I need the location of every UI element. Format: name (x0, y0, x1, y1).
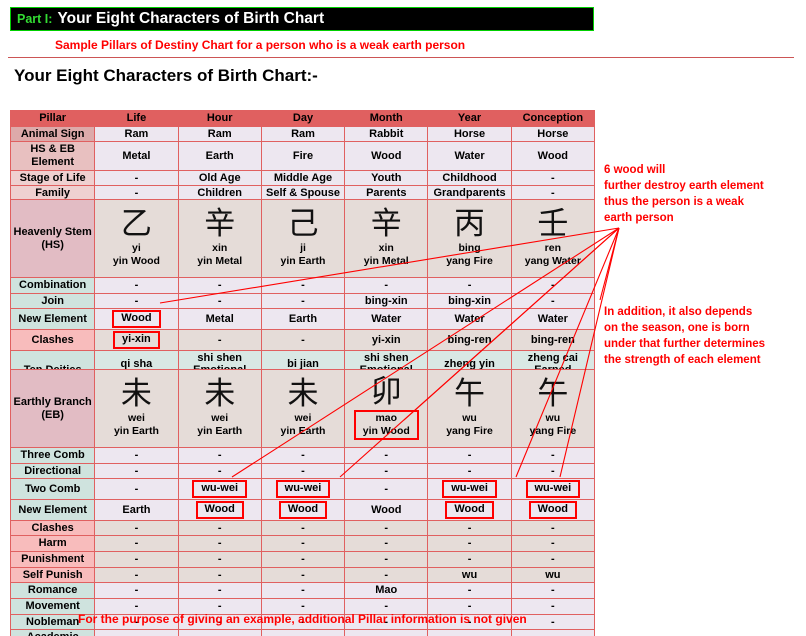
character-reading: xinyin Metal (180, 242, 260, 268)
table-cell: wu (511, 567, 594, 583)
table-cell: - (178, 330, 261, 351)
table-cell: - (428, 278, 511, 294)
element-label: yang Fire (429, 425, 509, 438)
table-cell: Rabbit (345, 126, 428, 142)
table-cell: - (178, 630, 261, 636)
heavenly-stem-corner-label: Heavenly Stem (HS) (11, 200, 95, 278)
table-cell: - (511, 552, 594, 568)
character-cell: 未weiyin Earth (95, 370, 178, 448)
table-cell: Ram (261, 126, 344, 142)
table-cell: - (345, 448, 428, 464)
table-cell: Ram (178, 126, 261, 142)
table-row: Clashesyi-xin--yi-xinbing-renbing-ren (11, 330, 595, 351)
table-cell: - (95, 479, 178, 500)
element-label: yin Earth (180, 425, 260, 438)
table-cell: Earth (95, 500, 178, 521)
column-header-day: Day (261, 111, 344, 127)
table-cell: - (261, 463, 344, 479)
table-cell: wu-wei (511, 479, 594, 500)
column-header-conception: Conception (511, 111, 594, 127)
character-cell: 卯maoyin Wood (345, 370, 428, 448)
character-row: Heavenly Stem (HS)乙yiyin Wood辛xinyin Met… (11, 200, 595, 278)
table-cell: - (345, 567, 428, 583)
table-cell: - (345, 536, 428, 552)
element-label: yang Water (513, 255, 593, 268)
pinyin-label: yi (96, 242, 176, 255)
heavenly-stem-table: Heavenly Stem (HS)乙yiyin Wood辛xinyin Met… (10, 199, 595, 392)
element-label: yin Earth (263, 425, 343, 438)
table-row: Clashes------ (11, 520, 595, 536)
row-label: Directional (11, 463, 95, 479)
character-reading: bingyang Fire (429, 242, 509, 268)
table-cell: - (95, 583, 178, 599)
column-header-hour: Hour (178, 111, 261, 127)
table-cell: - (95, 552, 178, 568)
table-cell: - (511, 630, 594, 636)
table-row: Romance---Mao-- (11, 583, 595, 599)
character-cell: 壬renyang Water (511, 200, 594, 278)
table-cell: - (261, 536, 344, 552)
table-cell: - (261, 278, 344, 294)
table-cell: Wood (178, 500, 261, 521)
row-label: New Element (11, 309, 95, 330)
chinese-character: 辛 (180, 209, 260, 240)
highlight-box: Wood (445, 501, 493, 519)
pillar-summary-table: PillarLifeHourDayMonthYearConceptionAnim… (10, 110, 595, 202)
table-cell: Earth (178, 142, 261, 170)
pinyin-label: bing (429, 242, 509, 255)
row-label: Clashes (11, 330, 95, 351)
character-reading: weiyin Earth (96, 412, 176, 438)
table-cell: Water (345, 309, 428, 330)
character-row: Earthly Branch (EB)未weiyin Earth未weiyin … (11, 370, 595, 448)
table-cell: Fire (261, 142, 344, 170)
table-cell: wu-wei (178, 479, 261, 500)
highlight-box: wu-wei (442, 480, 497, 498)
page-title-bar: Part I: Your Eight Characters of Birth C… (10, 7, 594, 31)
row-label: Harm (11, 536, 95, 552)
table-cell: - (428, 448, 511, 464)
table-cell: Wood (511, 500, 594, 521)
part-label: Part I: (17, 12, 52, 26)
element-label: yin Earth (263, 255, 343, 268)
highlight-box: wu-wei (192, 480, 247, 498)
table-row: New ElementWoodMetalEarthWaterWaterWater (11, 309, 595, 330)
table-cell: - (511, 170, 594, 186)
table-cell: - (178, 293, 261, 309)
table-cell: - (428, 463, 511, 479)
table-cell: Wood (95, 309, 178, 330)
character-cell: 丙bingyang Fire (428, 200, 511, 278)
table-cell: - (345, 479, 428, 500)
annotation-note-2: In addition, it also depends on the seas… (604, 305, 765, 368)
table-cell: bing-ren (428, 330, 511, 351)
table-cell: - (178, 567, 261, 583)
table-cell: - (95, 536, 178, 552)
pinyin-label: ji (263, 242, 343, 255)
table-row: Academic------ (11, 630, 595, 636)
table-cell: - (178, 552, 261, 568)
table-row: Harm------ (11, 536, 595, 552)
row-label: Join (11, 293, 95, 309)
row-label: Clashes (11, 520, 95, 536)
table-row: Two Comb-wu-weiwu-wei-wu-weiwu-wei (11, 479, 595, 500)
table-cell: - (261, 552, 344, 568)
column-header-year: Year (428, 111, 511, 127)
table-cell: - (511, 448, 594, 464)
table-cell: wu-wei (261, 479, 344, 500)
table-cell: Ram (95, 126, 178, 142)
element-label: yin Earth (96, 425, 176, 438)
pinyin-label: wu (429, 412, 509, 425)
character-cell: 午wuyang Fire (511, 370, 594, 448)
table-row: Directional------ (11, 463, 595, 479)
table-row: Three Comb------ (11, 448, 595, 464)
table-cell: - (95, 463, 178, 479)
table-cell: - (95, 567, 178, 583)
table-cell: bing-xin (428, 293, 511, 309)
table-header-row: PillarLifeHourDayMonthYearConception (11, 111, 595, 127)
table-cell: Water (428, 142, 511, 170)
row-label: Academic (11, 630, 95, 636)
earthly-branch-corner-label: Earthly Branch (EB) (11, 370, 95, 448)
page-title: Your Eight Characters of Birth Chart (57, 10, 324, 28)
chinese-character: 卯 (346, 377, 426, 408)
column-header-life: Life (95, 111, 178, 127)
row-label: Combination (11, 278, 95, 294)
element-label: yang Fire (513, 425, 593, 438)
character-cell: 未weiyin Earth (261, 370, 344, 448)
table-cell: Water (511, 309, 594, 330)
character-cell: 乙yiyin Wood (95, 200, 178, 278)
chinese-character: 午 (513, 379, 593, 410)
annotation-note-1: 6 wood will further destroy earth elemen… (604, 163, 764, 226)
table-cell: Wood (345, 142, 428, 170)
table-cell: - (95, 170, 178, 186)
element-label: yin Metal (346, 255, 426, 268)
row-label: Stage of Life (11, 170, 95, 186)
row-label: HS & EB Element (11, 142, 95, 170)
chinese-character: 午 (429, 379, 509, 410)
table-cell: bing-ren (511, 330, 594, 351)
chinese-character: 辛 (346, 209, 426, 240)
table-cell: - (95, 520, 178, 536)
table-cell: - (261, 448, 344, 464)
pinyin-label: wu (513, 412, 593, 425)
page-subtitle: Sample Pillars of Destiny Chart for a pe… (55, 38, 465, 52)
table-cell: - (261, 293, 344, 309)
table-cell: - (95, 278, 178, 294)
table-cell: - (428, 583, 511, 599)
table-cell: - (511, 463, 594, 479)
chinese-character: 未 (180, 379, 260, 410)
table-row: Punishment------ (11, 552, 595, 568)
table-cell: yi-xin (345, 330, 428, 351)
pinyin-label: xin (180, 242, 260, 255)
table-cell: - (95, 293, 178, 309)
table-cell: - (511, 293, 594, 309)
table-cell: - (345, 520, 428, 536)
table-cell: - (345, 630, 428, 636)
table-cell: - (95, 448, 178, 464)
character-cell: 午wuyang Fire (428, 370, 511, 448)
table-cell: - (261, 583, 344, 599)
table-cell: Middle Age (261, 170, 344, 186)
table-cell: Water (428, 309, 511, 330)
table-cell: - (511, 520, 594, 536)
column-header-pillar: Pillar (11, 111, 95, 127)
chinese-character: 己 (263, 209, 343, 240)
element-label: yang Fire (429, 255, 509, 268)
table-cell: - (178, 520, 261, 536)
table-cell: Old Age (178, 170, 261, 186)
pinyin-label: wei (180, 412, 260, 425)
table-cell: Wood (261, 500, 344, 521)
row-label: New Element (11, 500, 95, 521)
table-cell: wu (428, 567, 511, 583)
table-row: Combination------ (11, 278, 595, 294)
table-cell: - (261, 330, 344, 351)
character-cell: 未weiyin Earth (178, 370, 261, 448)
table-cell: yi-xin (95, 330, 178, 351)
table-cell: - (95, 630, 178, 636)
table-row: New ElementEarthWoodWoodWoodWoodWood (11, 500, 595, 521)
character-cell: 辛xinyin Metal (178, 200, 261, 278)
row-label: Romance (11, 583, 95, 599)
highlight-box: Wood (112, 310, 160, 328)
page-root: Part I: Your Eight Characters of Birth C… (0, 0, 806, 636)
table-cell: Wood (511, 142, 594, 170)
table-cell: - (178, 463, 261, 479)
element-label: yin Wood (96, 255, 176, 268)
horizontal-divider (8, 57, 794, 58)
section-title: Your Eight Characters of Birth Chart:- (14, 66, 318, 86)
highlight-box: wu-wei (526, 480, 581, 498)
table-cell: Horse (511, 126, 594, 142)
column-header-month: Month (345, 111, 428, 127)
character-reading: weiyin Earth (180, 412, 260, 438)
table-cell: - (178, 536, 261, 552)
table-cell: - (345, 463, 428, 479)
row-label: Animal Sign (11, 126, 95, 142)
table-cell: Horse (428, 126, 511, 142)
table-cell: - (178, 583, 261, 599)
table-row: Stage of Life-Old AgeMiddle AgeYouthChil… (11, 170, 595, 186)
character-reading: wuyang Fire (513, 412, 593, 438)
row-label: Punishment (11, 552, 95, 568)
character-reading: maoyin Wood (354, 410, 419, 440)
earthly-branch-table: Earthly Branch (EB)未weiyin Earth未weiyin … (10, 369, 595, 636)
table-row: Join---bing-xinbing-xin- (11, 293, 595, 309)
table-cell: - (428, 536, 511, 552)
character-cell: 辛xinyin Metal (345, 200, 428, 278)
highlight-box: Wood (196, 501, 244, 519)
table-cell: - (511, 278, 594, 294)
row-label: Two Comb (11, 479, 95, 500)
character-reading: jiyin Earth (263, 242, 343, 268)
table-cell: - (428, 520, 511, 536)
table-cell: wu-wei (428, 479, 511, 500)
character-cell: 己jiyin Earth (261, 200, 344, 278)
table-cell: - (428, 552, 511, 568)
highlight-box: Wood (529, 501, 577, 519)
table-cell: Youth (345, 170, 428, 186)
element-label: yin Metal (180, 255, 260, 268)
table-cell: Metal (95, 142, 178, 170)
table-cell: bing-xin (345, 293, 428, 309)
chinese-character: 未 (96, 379, 176, 410)
table-row: Self Punish----wuwu (11, 567, 595, 583)
footer-note: For the purpose of giving an example, ad… (78, 612, 527, 626)
character-reading: weiyin Earth (263, 412, 343, 438)
chinese-character: 丙 (429, 209, 509, 240)
character-reading: renyang Water (513, 242, 593, 268)
pinyin-label: xin (346, 242, 426, 255)
row-label: Self Punish (11, 567, 95, 583)
table-cell: - (511, 536, 594, 552)
table-cell: - (428, 630, 511, 636)
pinyin-label: ren (513, 242, 593, 255)
row-label: Three Comb (11, 448, 95, 464)
table-cell: Mao (345, 583, 428, 599)
character-reading: wuyang Fire (429, 412, 509, 438)
chinese-character: 壬 (513, 209, 593, 240)
element-label: yin Wood (363, 425, 410, 438)
table-cell: - (261, 520, 344, 536)
pinyin-label: wei (96, 412, 176, 425)
table-cell: - (345, 278, 428, 294)
table-cell: Childhood (428, 170, 511, 186)
character-reading: yiyin Wood (96, 242, 176, 268)
table-cell: - (261, 630, 344, 636)
highlight-box: wu-wei (276, 480, 331, 498)
table-cell: Wood (428, 500, 511, 521)
table-cell: - (511, 583, 594, 599)
table-cell: - (178, 448, 261, 464)
character-reading: xinyin Metal (346, 242, 426, 268)
table-cell: Wood (345, 500, 428, 521)
highlight-box: yi-xin (113, 331, 160, 349)
table-cell: - (178, 278, 261, 294)
highlight-box: Wood (279, 501, 327, 519)
table-cell: Metal (178, 309, 261, 330)
pinyin-label: mao (363, 412, 410, 425)
chinese-character: 未 (263, 379, 343, 410)
table-cell: - (345, 552, 428, 568)
table-cell: Earth (261, 309, 344, 330)
table-cell: - (261, 567, 344, 583)
table-row: HS & EB ElementMetalEarthFireWoodWaterWo… (11, 142, 595, 170)
chinese-character: 乙 (96, 209, 176, 240)
table-row: Animal SignRamRamRamRabbitHorseHorse (11, 126, 595, 142)
pinyin-label: wei (263, 412, 343, 425)
